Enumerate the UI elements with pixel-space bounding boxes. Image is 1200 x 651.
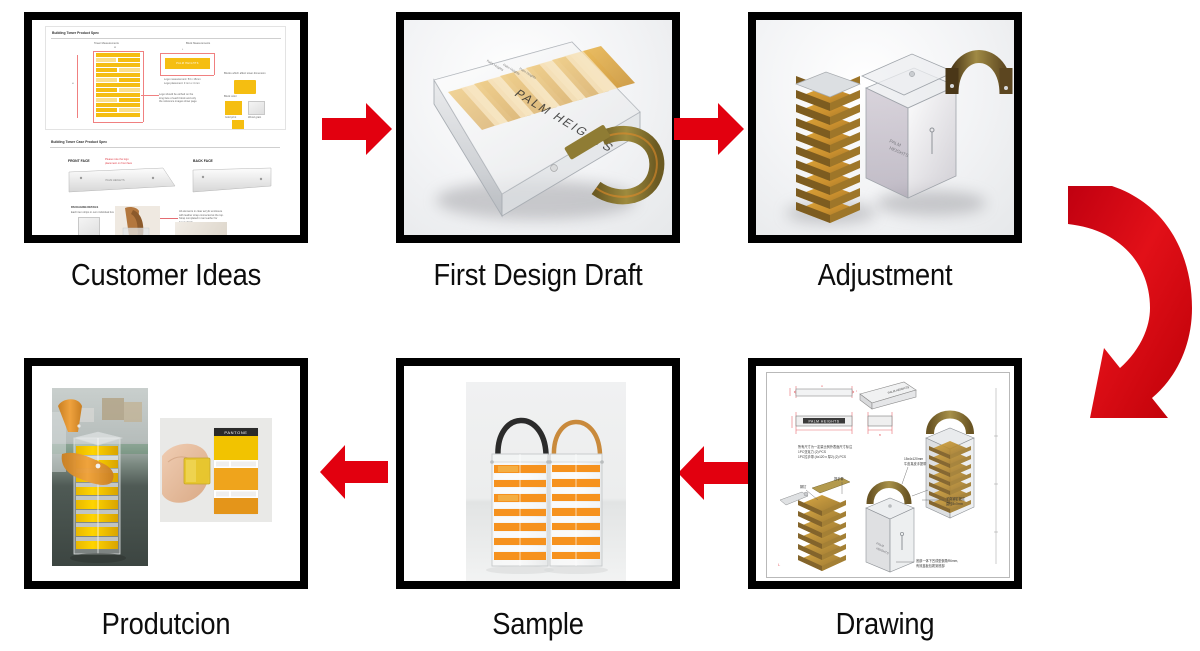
dimension-line (93, 51, 94, 122)
adjustment-cad-render: PALM HEIGHTS (756, 20, 1014, 235)
panel-sample[interactable] (396, 358, 680, 589)
tower-measurements-heading: Tower Measurements (94, 42, 119, 46)
panel-production[interactable]: PANTONE (24, 358, 308, 589)
caption-adjustment: Adjustment (764, 259, 1005, 290)
dimension-label: L (182, 49, 183, 52)
svg-text:铆钉: 铆钉 (800, 484, 807, 489)
arrow-right-2 (672, 100, 746, 158)
technical-drawing: A t PALM HEIGHTS B (756, 366, 1014, 581)
sample-photo (404, 366, 672, 581)
arrow-curved-down-glyph (1060, 182, 1196, 430)
corner-detail-photo (175, 222, 227, 235)
packaging-label: PACKAGING DETAILS (71, 206, 98, 210)
color-swatch (234, 80, 256, 94)
dimension-line (143, 51, 144, 122)
blocks-affect-note: Blocks which affect tower dimension (224, 72, 266, 76)
dimension-line (160, 75, 214, 76)
exploded-assembly-render: PALM HEIGHTS (756, 20, 1014, 235)
front-face-label: FRONT FACE (68, 159, 90, 164)
svg-text:子母铆钉固定: 子母铆钉固定 (946, 496, 966, 501)
panel-customer-ideas[interactable]: Building Tower Product Spec Tower Measur… (24, 12, 308, 243)
arrow-left-2 (318, 442, 390, 502)
dimension-line (93, 122, 143, 123)
arrow-left-2-glyph (318, 442, 390, 502)
pantone-swatch-photo-content: PANTONE (160, 418, 272, 522)
svg-text:直径8x7mm: 直径8x7mm (946, 501, 963, 506)
dimension-line (77, 55, 78, 118)
svg-text:PALM HEIGHTS: PALM HEIGHTS (105, 178, 124, 182)
etching-note: Logo should be etched on the long face o… (159, 93, 197, 104)
production-unit-photo (52, 388, 148, 566)
spec-sheet-case: Building Tower Case Product Spec FRONT F… (45, 138, 286, 235)
swatch-label: Block color (224, 95, 237, 99)
back-face-label: BACK FACE (193, 159, 213, 164)
divider (50, 147, 280, 148)
dimension-line (160, 53, 214, 54)
drawing-content: A t PALM HEIGHTS B (756, 366, 1014, 581)
customer-ideas-spec-sheets: Building Tower Product Spec Tower Measur… (32, 20, 300, 235)
sample-towers-render (466, 382, 626, 581)
divider (51, 38, 281, 39)
svg-text:15x4x120mm: 15x4x120mm (904, 457, 923, 461)
panel-first-design-draft[interactable]: PALM HEIGHTS Palm Heights Palm Heights P… (396, 12, 680, 243)
packaging-photo (78, 217, 100, 235)
caption-production: Produtcion (41, 608, 291, 639)
caption-customer-ideas: Customer Ideas (41, 259, 291, 290)
arrow-left-1-glyph (676, 442, 750, 504)
swatch-label: Wood grain (248, 116, 261, 120)
spec-sheet-tower: Building Tower Product Spec Tower Measur… (45, 26, 286, 130)
production-unit-photo-content (52, 388, 148, 566)
production-photos: PANTONE (32, 366, 300, 581)
svg-text:所有尺寸为一定量比例外表面尺寸标注: 所有尺寸为一定量比例外表面尺寸标注 (798, 444, 853, 449)
svg-text:有效盖板包裹到底部: 有效盖板包裹到底部 (916, 563, 945, 568)
arrow-right-1-glyph (320, 100, 394, 158)
panel-drawing[interactable]: A t PALM HEIGHTS B (748, 358, 1022, 589)
logo-measurement-note: Logo measurement: 53 x 16mm Logo placeme… (164, 78, 201, 85)
sample-tower-left (490, 420, 550, 566)
dimension-line (160, 53, 161, 75)
packaging-note: Each item ships in own individual box (71, 211, 114, 215)
svg-text:PANTONE: PANTONE (224, 430, 247, 435)
color-swatch (248, 101, 265, 115)
horizontal-case-render: PALM HEIGHTS Palm Heights Palm Heights P… (404, 20, 672, 235)
block-detail: PALM HEIGHTS (165, 58, 210, 69)
spec-sheet-tower-title: Building Tower Product Spec (52, 31, 99, 35)
svg-text:底部一体下凹成型倒角R6mm,: 底部一体下凹成型倒角R6mm, (916, 558, 958, 563)
pantone-swatch-photo: PANTONE (160, 418, 272, 522)
case-back-render (191, 166, 279, 200)
block-measurements-heading: Block Measurements (186, 42, 210, 46)
arrow-left-1 (676, 442, 750, 504)
dimension-line (214, 53, 215, 75)
first-design-cad-render: PALM HEIGHTS Palm Heights Palm Heights P… (404, 20, 672, 235)
leader-line (160, 218, 178, 219)
svg-text:L: L (778, 562, 781, 567)
arrow-right-2-glyph (672, 100, 746, 158)
arrow-right-1 (320, 100, 394, 158)
caption-drawing: Drawing (764, 608, 1005, 639)
color-swatch (232, 120, 244, 129)
arrow-curved-down (1060, 182, 1196, 430)
block-stack (796, 72, 860, 223)
svg-text:PALM HEIGHTS: PALM HEIGHTS (809, 419, 840, 423)
dimension-label: H (72, 83, 74, 86)
svg-text:A: A (821, 384, 823, 388)
sample-tower-right (548, 422, 604, 566)
swatch-label: Gold print (225, 116, 236, 120)
svg-text:牛皮真皮手提带: 牛皮真皮手提带 (904, 461, 927, 466)
leather-strap-handle (950, 57, 1008, 95)
svg-text:1PC拉手带 (4x120 x 厚2) (2) PCS: 1PC拉手带 (4x120 x 厚2) (2) PCS (798, 454, 846, 459)
case-front-render: PALM HEIGHTS (67, 166, 177, 200)
flowchart-canvas: Building Tower Product Spec Tower Measur… (0, 0, 1200, 651)
dimension-label: W (114, 47, 116, 50)
caption-sample: Sample (413, 608, 663, 639)
caption-first-design-draft: First Design Draft (413, 259, 663, 290)
svg-text:B: B (879, 433, 881, 437)
color-swatch (225, 101, 242, 115)
spec-sheet-case-title: Building Tower Case Product Spec (51, 140, 107, 144)
panel-adjustment[interactable]: PALM HEIGHTS (748, 12, 1022, 243)
svg-text:t: t (856, 389, 857, 393)
front-face-red-note: Please note the logo placement on front … (105, 158, 132, 165)
leader-line (141, 95, 159, 96)
dimension-line (93, 51, 143, 52)
acrylic-case: PALM HEIGHTS (862, 54, 956, 198)
strap-photo-content (115, 206, 160, 235)
svg-text:1PC亚克力 (2) PCS: 1PC亚克力 (2) PCS (798, 449, 826, 454)
svg-text:提手带: 提手带 (834, 476, 844, 481)
